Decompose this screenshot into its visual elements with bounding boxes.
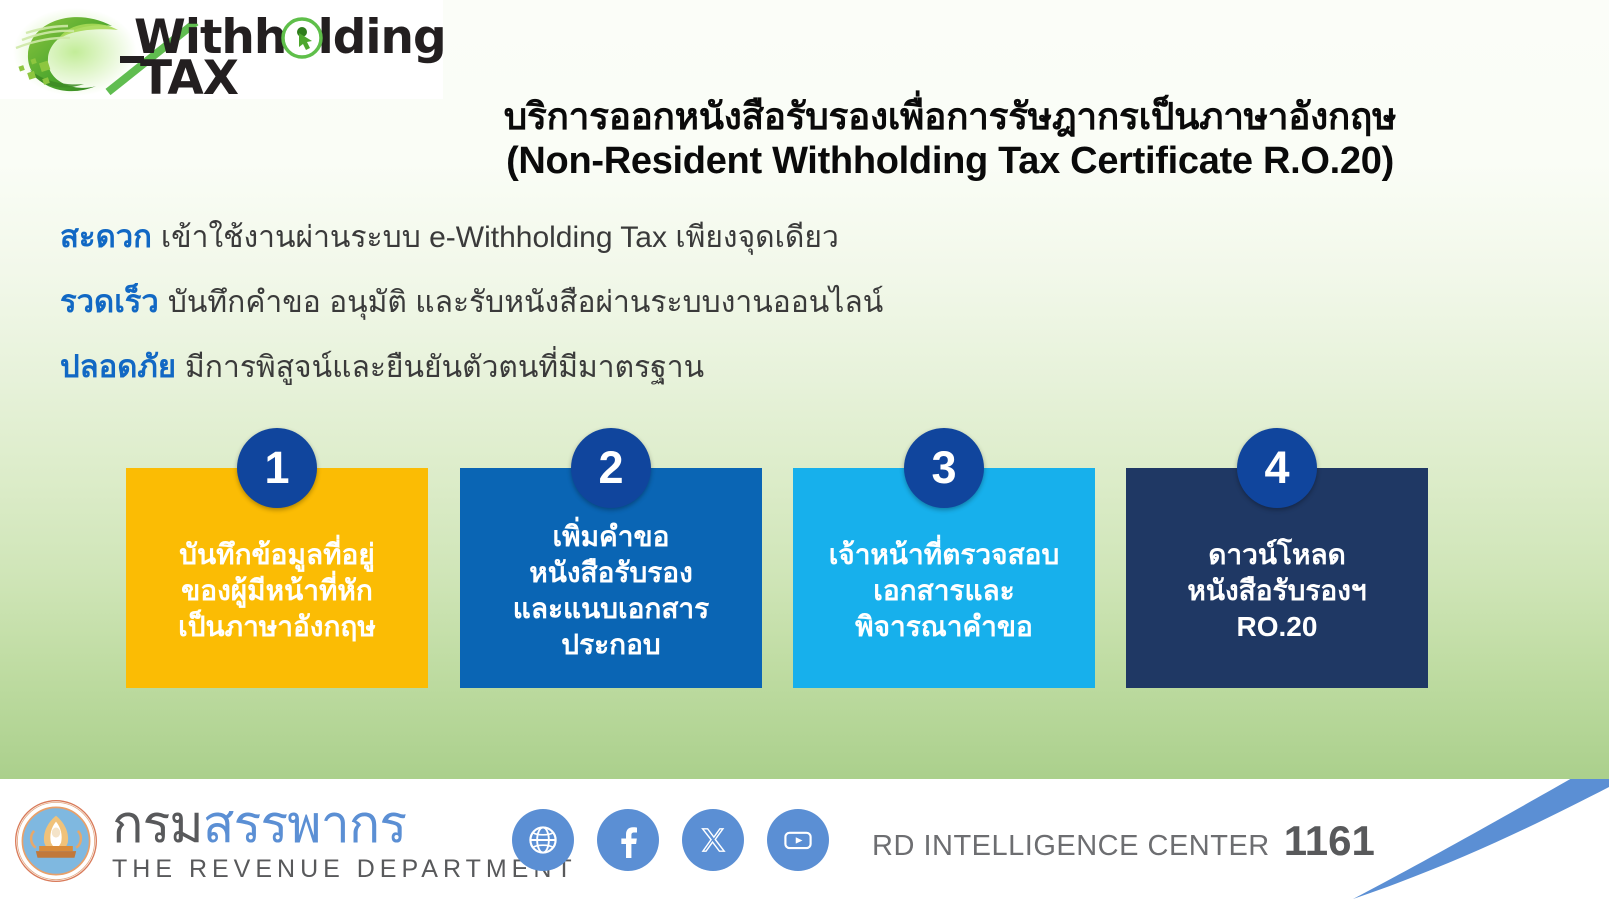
logo-prefix-e-icon [100,60,144,104]
step-card-2: เพิ่มคำขอ หนังสือรับรอง และแนบเอกสาร ประ… [460,468,762,688]
step-number-badge-3: 3 [904,428,984,508]
feature-keyword: รวดเร็ว [60,284,159,319]
feature-keyword: สะดวก [60,219,152,254]
feature-description: มีการพิสูจน์และยืนยันตัวตนที่มีมาตรฐาน [185,351,704,384]
step-label-4: ดาวน์โหลด หนังสือรับรองฯ RO.20 [1187,537,1366,645]
footer-bar: กรมสรรพากร THE REVENUE DEPARTMENT [0,779,1609,903]
facebook-glyph [610,822,646,858]
feature-item-convenient: สะดวกเข้าใช้งานผ่านระบบ e-Withholding Ta… [60,216,1160,281]
feature-item-secure: ปลอดภัยมีการพิสูจน์และยืนยันตัวตนที่มีมา… [60,346,1160,411]
x-twitter-icon[interactable] [682,809,744,871]
step-number-badge-2: 2 [571,428,651,508]
department-name-thai: กรมสรรพากร [112,797,577,853]
page-title-thai: บริการออกหนังสือรับรองเพื่อการรัษฎากรเป็… [300,96,1600,139]
globe-glyph [525,822,561,858]
hotline-info: RD INTELLIGENCE CENTER 1161 [872,817,1375,865]
step-number-badge-1: 1 [237,428,317,508]
page-title: บริการออกหนังสือรับรองเพื่อการรัษฎากรเป็… [300,96,1600,183]
step-card-4: ดาวน์โหลด หนังสือรับรองฯ RO.20 4 [1126,468,1428,688]
brand-logo-block: Withholding TAX [0,0,443,99]
feature-description: บันทึกคำขอ อนุมัติ และรับหนังสือผ่านระบบ… [168,286,883,319]
page-title-english: (Non-Resident Withholding Tax Certificat… [300,139,1600,183]
feature-list: สะดวกเข้าใช้งานผ่านระบบ e-Withholding Ta… [60,216,1160,411]
logo-word-tax: TAX [140,55,238,102]
x-glyph [697,824,729,856]
process-steps: บันทึกข้อมูลที่อยู่ ของผู้มีหน้าที่หัก เ… [126,428,1431,690]
youtube-glyph [780,822,816,858]
department-name-thai-prefix: กรม [112,795,203,855]
facebook-icon[interactable] [597,809,659,871]
step-card-3: เจ้าหน้าที่ตรวจสอบ เอกสารและ พิจารณาคำขอ… [793,468,1095,688]
department-name-thai-suffix: สรรพากร [203,795,407,855]
hotline-number: 1161 [1284,817,1375,865]
infographic-canvas: Withholding TAX บริการออกหนังสือรับรองเพ… [0,0,1609,903]
touch-pointer-icon [280,16,324,60]
feature-description: เข้าใช้งานผ่านระบบ e-Withholding Tax เพี… [161,221,839,254]
feature-item-fast: รวดเร็วบันทึกคำขอ อนุมัติ และรับหนังสือผ… [60,281,1160,346]
step-card-1: บันทึกข้อมูลที่อยู่ ของผู้มีหน้าที่หัก เ… [126,468,428,688]
website-icon[interactable] [512,809,574,871]
feature-keyword: ปลอดภัย [60,349,176,384]
youtube-icon[interactable] [767,809,829,871]
department-name-group: กรมสรรพากร THE REVENUE DEPARTMENT [112,797,577,884]
step-label-3: เจ้าหน้าที่ตรวจสอบ เอกสารและ พิจารณาคำขอ [829,537,1060,645]
step-number-badge-4: 4 [1237,428,1317,508]
step-label-1: บันทึกข้อมูลที่อยู่ ของผู้มีหน้าที่หัก เ… [178,537,376,645]
department-name-english: THE REVENUE DEPARTMENT [112,855,577,884]
step-label-2: เพิ่มคำขอ หนังสือรับรอง และแนบเอกสาร ประ… [513,519,709,663]
hotline-label: RD INTELLIGENCE CENTER [872,830,1270,863]
revenue-department-seal-icon [14,799,98,883]
